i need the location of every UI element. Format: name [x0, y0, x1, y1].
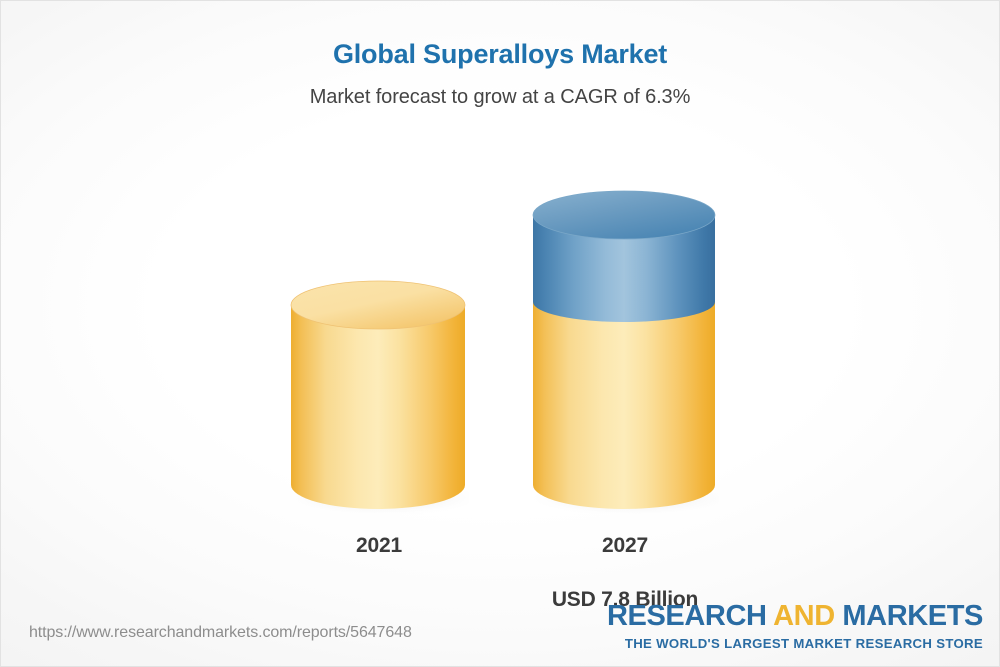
cylinder-segment-base-2027: [533, 302, 715, 509]
logo-tagline: THE WORLD'S LARGEST MARKET RESEARCH STOR…: [607, 631, 983, 650]
cylinder-top-2027: [533, 191, 715, 239]
report-url[interactable]: https://www.researchandmarkets.com/repor…: [29, 624, 412, 642]
chart-plot-area: USD 5.4 Billion: [1, 141, 1000, 571]
cylinder-bar-2021: [289, 280, 469, 516]
cylinder-body-2021: [291, 305, 465, 509]
infographic-chart: Global Superalloys Market Market forecas…: [0, 0, 1000, 667]
logo-word-markets: MARKETS: [835, 600, 983, 632]
chart-title: Global Superalloys Market: [1, 39, 999, 70]
logo-word-research: RESEARCH: [607, 600, 773, 632]
cylinder-bar-2027: [531, 190, 719, 516]
cylinder-top-2021: [291, 281, 465, 329]
year-label-2021: 2021: [289, 534, 469, 558]
research-and-markets-logo[interactable]: RESEARCH AND MARKETS THE WORLD'S LARGEST…: [607, 602, 983, 650]
logo-wordmark: RESEARCH AND MARKETS: [607, 602, 983, 631]
chart-subtitle: Market forecast to grow at a CAGR of 6.3…: [1, 70, 999, 109]
logo-word-and: AND: [773, 600, 835, 632]
chart-header: Global Superalloys Market Market forecas…: [1, 1, 999, 109]
year-label-2027: 2027: [531, 534, 719, 558]
